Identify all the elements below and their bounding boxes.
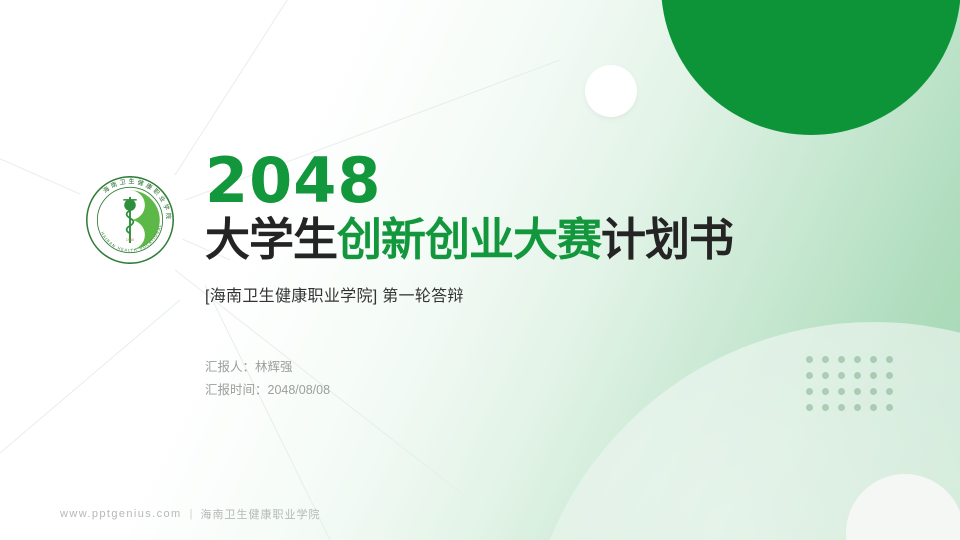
title-slide: 海南卫生健康职业学院 HAINAN HEALTH VOCATIONAL COLL… [0, 0, 960, 540]
presenter-line: 汇报人：林辉强 [205, 356, 845, 379]
college-logo-icon: 海南卫生健康职业学院 HAINAN HEALTH VOCATIONAL COLL… [82, 172, 178, 268]
headline-part-2: 创新创业大赛 [337, 214, 601, 265]
title-content: 2048 大学生创新创业大赛计划书 [海南卫生健康职业学院] 第一轮答辩 汇报人… [205, 150, 845, 402]
subtitle: [海南卫生健康职业学院] 第一轮答辩 [205, 282, 845, 306]
white-dot-decor [585, 65, 637, 117]
headline-part-1: 大学生 [205, 214, 337, 265]
svg-text:1950: 1950 [126, 238, 134, 242]
headline-part-3: 计划书 [601, 214, 733, 265]
footer-organization: 海南卫生健康职业学院 [200, 506, 320, 522]
green-circle-decor [661, 0, 960, 135]
date-line: 汇报时间：2048/08/08 [205, 379, 845, 402]
presentation-meta: 汇报人：林辉强 汇报时间：2048/08/08 [205, 356, 845, 402]
footer-website[interactable]: www.pptgenius.com [60, 508, 182, 520]
page-title: 大学生创新创业大赛计划书 [205, 214, 845, 266]
white-circle-bottom-right-decor [846, 474, 960, 540]
year-heading: 2048 [205, 150, 845, 212]
footer: www.pptgenius.com | 海南卫生健康职业学院 [60, 506, 320, 522]
footer-separator: | [190, 508, 193, 520]
